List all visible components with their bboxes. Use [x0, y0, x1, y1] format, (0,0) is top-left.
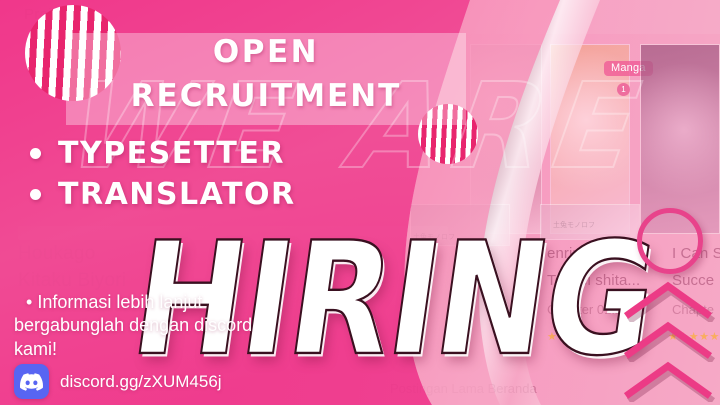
info-bullet-icon: • — [26, 292, 32, 312]
bullet-dot-icon — [30, 189, 41, 200]
banner-line-2: RECRUITMENT — [66, 74, 466, 118]
info-line-3: kami! — [14, 339, 57, 359]
discord-url[interactable]: discord.gg/zXUM456j — [60, 372, 222, 392]
chevron-up-icon — [620, 278, 716, 322]
role-label: TRANSLATOR — [58, 177, 296, 212]
info-line-2: bergabunglah dengan discord — [14, 315, 252, 335]
discord-icon — [14, 364, 49, 399]
role-label: TYPESETTER — [58, 136, 285, 171]
circle-outline-icon — [637, 208, 703, 274]
info-line-1: Informasi lebih lanjut — [37, 292, 202, 312]
recruitment-banner-text: OPEN RECRUITMENT — [66, 30, 466, 118]
chevron-up-icon — [620, 358, 716, 402]
chevron-up-icon — [620, 318, 716, 362]
role-item-typesetter: TYPESETTER — [30, 136, 296, 171]
info-paragraph: • Informasi lebih lanjut bergabunglah de… — [14, 291, 284, 361]
recruitment-poster: Proje 土兔モノロフ Manga 1 土兔モノロフ Houkago Kita… — [0, 0, 720, 405]
discord-invite[interactable]: discord.gg/zXUM456j — [14, 364, 222, 399]
banner-line-1: OPEN — [66, 30, 466, 74]
role-item-translator: TRANSLATOR — [30, 177, 296, 212]
bullet-dot-icon — [30, 148, 41, 159]
role-list: TYPESETTER TRANSLATOR — [30, 136, 296, 218]
